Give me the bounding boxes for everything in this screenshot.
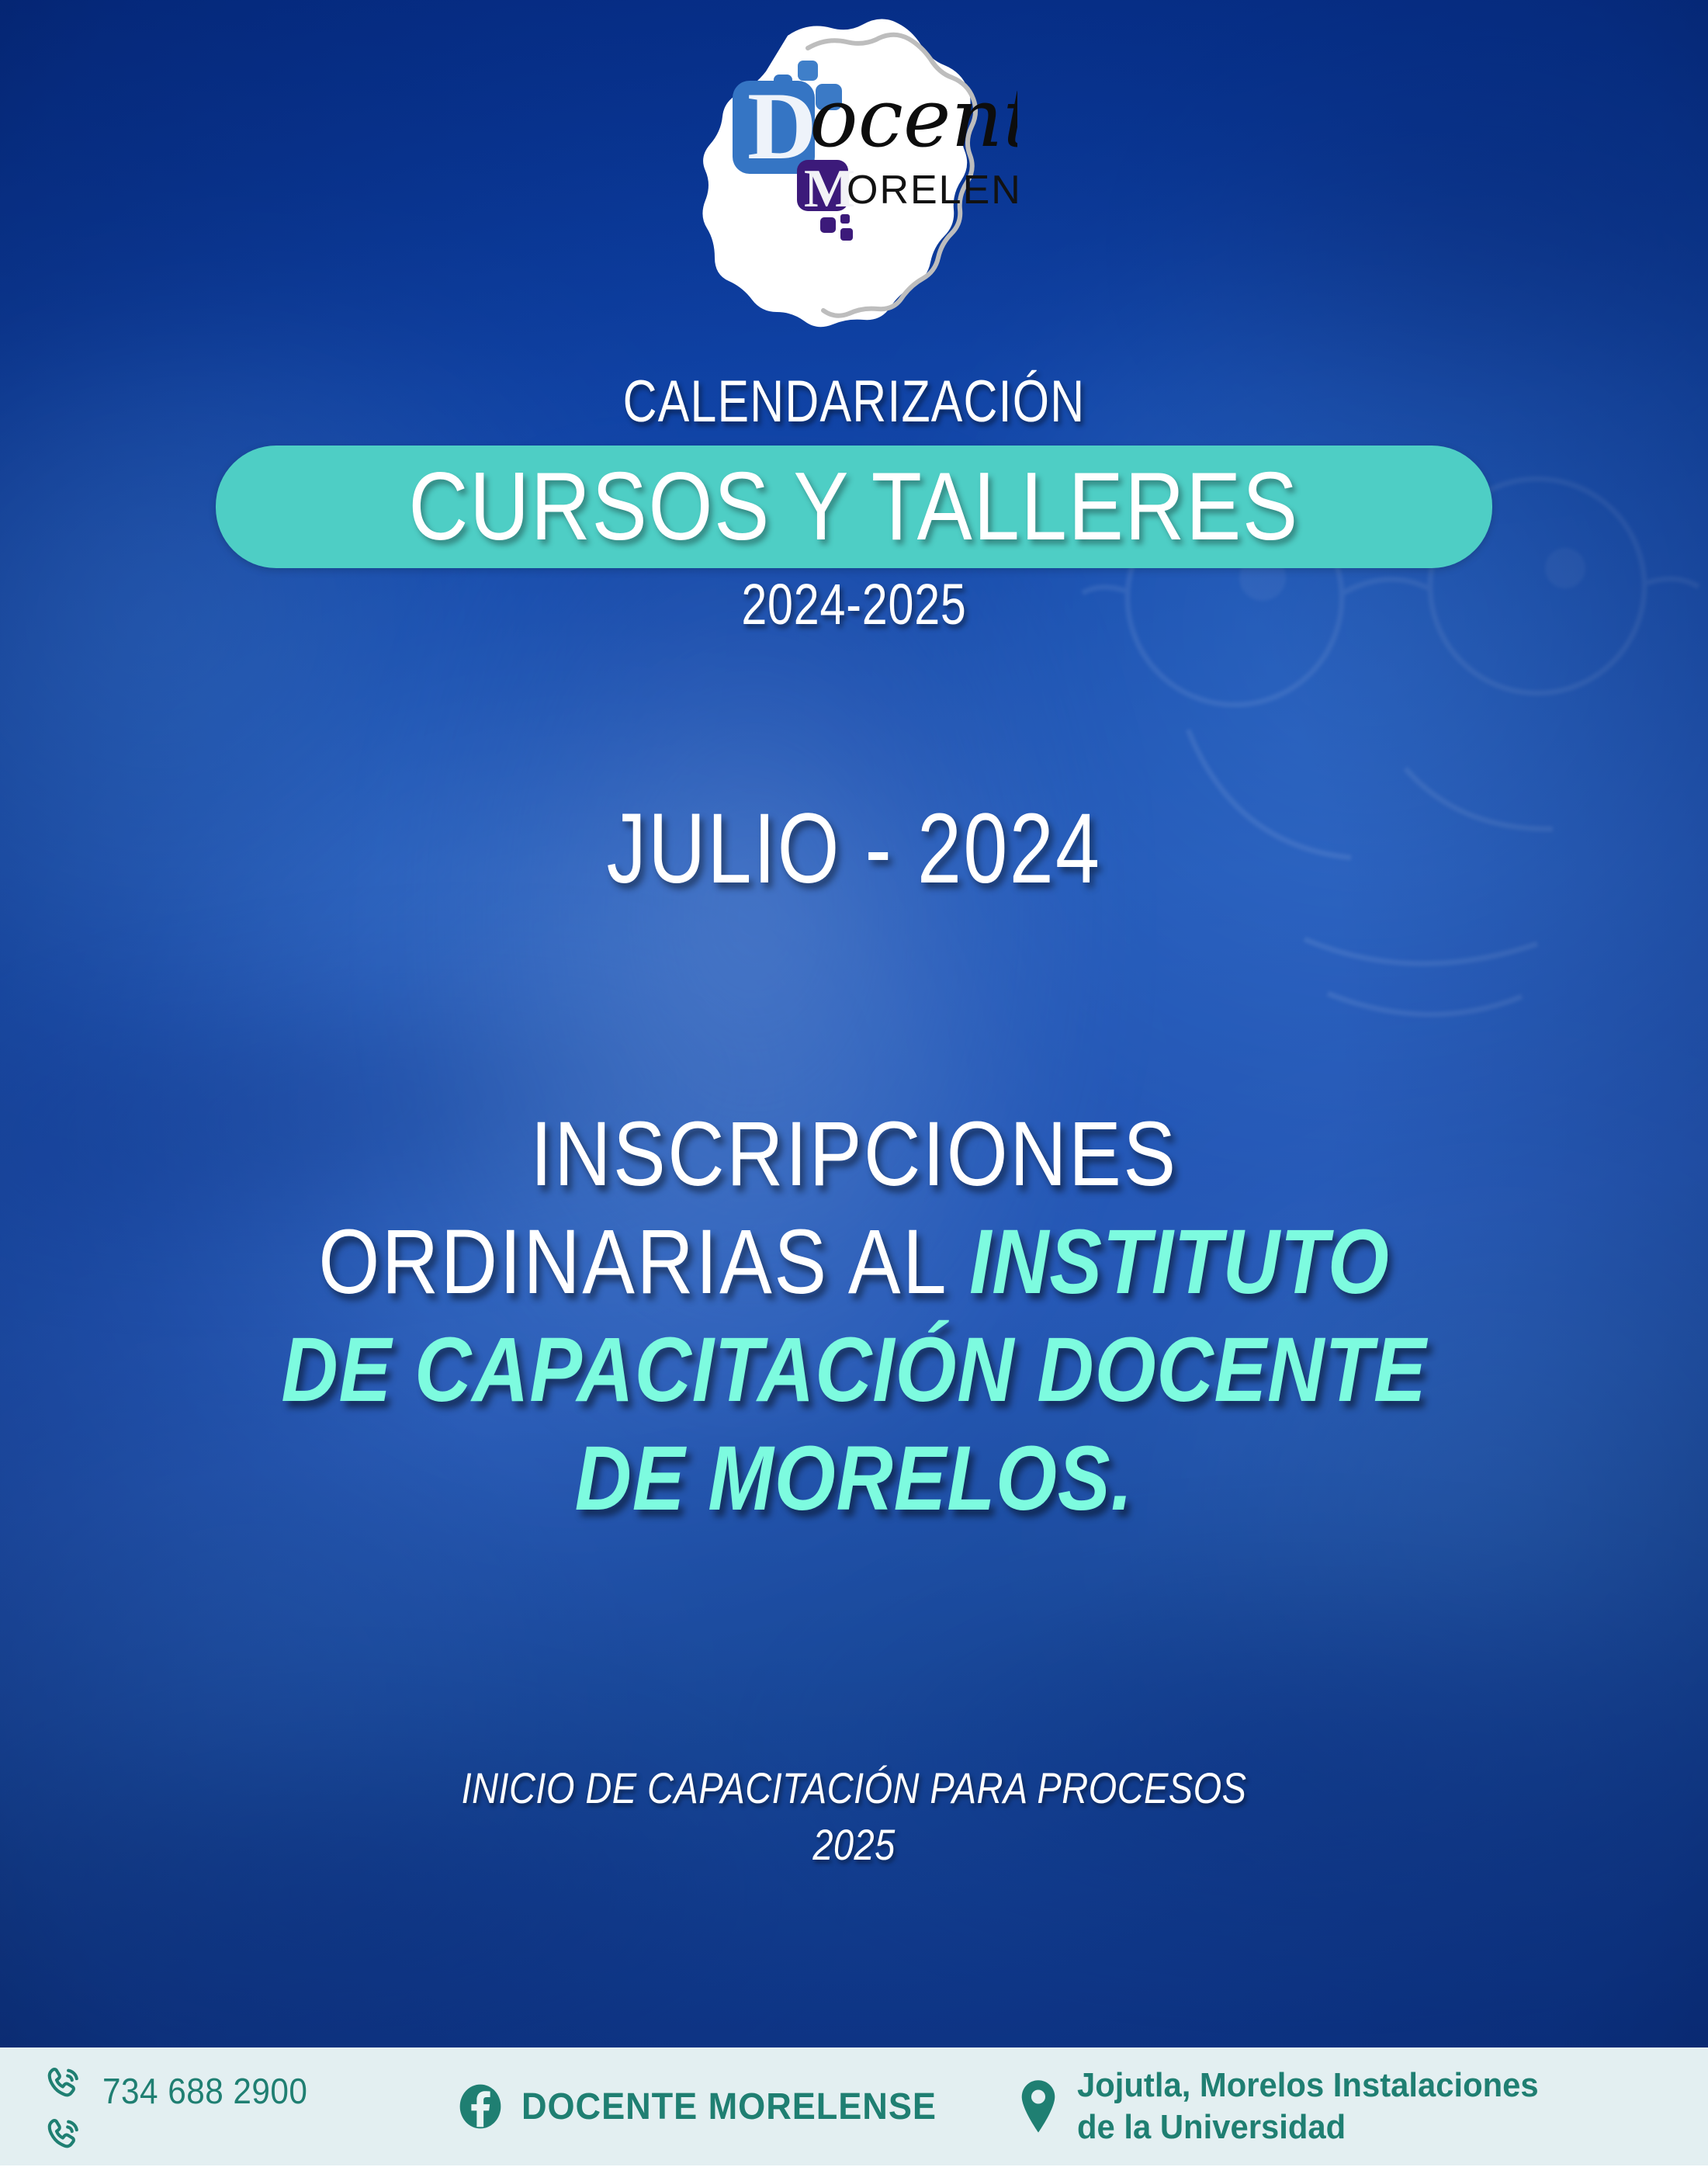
location-line-2: de la Universidad xyxy=(1077,2106,1539,2148)
phone-ring-icon xyxy=(39,2064,84,2109)
headline-line-2-accent: INSTITUTO xyxy=(969,1211,1389,1313)
month-heading: JULIO - 2024 xyxy=(171,799,1537,899)
docente-morelense-logo-icon: D ocente M ORELENSE xyxy=(691,6,1017,332)
footer-phone-group: 734 688 2900 xyxy=(0,2053,435,2160)
note-line-2: 2025 xyxy=(137,1817,1571,1874)
location-line-1: Jojutla, Morelos Instalaciones xyxy=(1077,2065,1539,2106)
footer-bar: 734 688 2900 DOCENTE MORELENSE Jojutla, … xyxy=(0,2047,1708,2165)
logo: D ocente M ORELENSE xyxy=(691,6,1017,332)
cursos-talleres-pill: CURSOS Y TALLERES xyxy=(216,446,1492,568)
location-text: Jojutla, Morelos Instalaciones de la Uni… xyxy=(1077,2065,1539,2148)
note-block: INICIO DE CAPACITACIÓN PARA PROCESOS 202… xyxy=(137,1760,1571,1874)
years-label: 2024-2025 xyxy=(171,574,1537,635)
headline-line-1: INSCRIPCIONES xyxy=(160,1101,1549,1208)
phone-number[interactable]: 734 688 2900 xyxy=(102,2070,307,2112)
svg-text:ORELENSE: ORELENSE xyxy=(847,168,1017,213)
headline-line-2-plain: ORDINARIAS AL xyxy=(318,1211,969,1313)
phone-ring-icon-secondary xyxy=(39,2115,84,2160)
poster: D ocente M ORELENSE CALENDARIZACIÓN CURS… xyxy=(0,0,1708,2174)
bottom-white-strip xyxy=(0,2165,1708,2174)
svg-text:ocente: ocente xyxy=(809,71,1017,165)
facebook-page-name[interactable]: DOCENTE MORELENSE xyxy=(521,2086,937,2128)
map-pin-icon xyxy=(1017,2078,1060,2135)
kicker-calendarizacion: CALENDARIZACIÓN xyxy=(171,371,1537,433)
cursos-talleres-label: CURSOS Y TALLERES xyxy=(409,459,1299,555)
note-line-1: INICIO DE CAPACITACIÓN PARA PROCESOS xyxy=(137,1760,1571,1817)
title-block: CALENDARIZACIÓN CURSOS Y TALLERES 2024-2… xyxy=(0,371,1708,634)
headline: INSCRIPCIONES ORDINARIAS AL INSTITUTO DE… xyxy=(47,1101,1661,1533)
poster-content: D ocente M ORELENSE CALENDARIZACIÓN CURS… xyxy=(0,0,1708,2174)
facebook-icon[interactable] xyxy=(456,2082,504,2131)
phone-icon-stack xyxy=(39,2064,84,2160)
headline-line-2: ORDINARIAS AL INSTITUTO xyxy=(160,1208,1549,1316)
footer-location-group: Jojutla, Morelos Instalaciones de la Uni… xyxy=(993,2065,1708,2148)
headline-line-4: DE MORELOS. xyxy=(160,1425,1549,1533)
footer-facebook-group[interactable]: DOCENTE MORELENSE xyxy=(435,2082,993,2131)
headline-line-3: DE CAPACITACIÓN DOCENTE xyxy=(160,1316,1549,1424)
